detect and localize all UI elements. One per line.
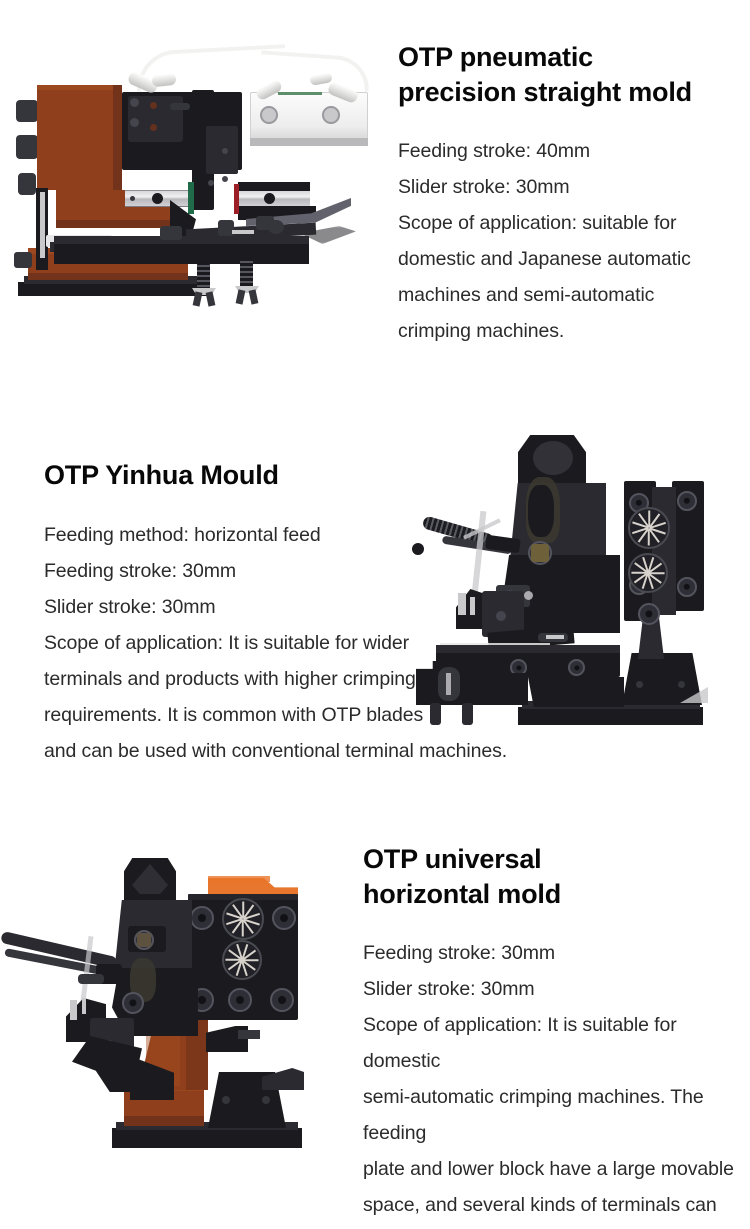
product-section-universal: OTP universal horizontal mold Feeding st… [0, 820, 750, 1229]
product-image-pneumatic [10, 30, 380, 320]
scope-line: space, and several kinds of terminals ca… [363, 1187, 743, 1223]
heading-line: precision straight mold [398, 75, 743, 110]
heading-line: OTP pneumatic [398, 40, 743, 75]
product-specs-page: OTP pneumatic precision straight mold Fe… [0, 0, 750, 1229]
product-image-universal [0, 840, 340, 1170]
text-block-universal: OTP universal horizontal mold Feeding st… [363, 842, 743, 1229]
text-block-pneumatic: OTP pneumatic precision straight mold Fe… [398, 40, 743, 349]
scope-line: Scope of application: It is suitable for… [363, 1007, 743, 1079]
adjustment-dial-upper [222, 898, 264, 940]
heading-line: OTP universal [363, 842, 743, 877]
heading-universal: OTP universal horizontal mold [363, 842, 743, 912]
scope-line: machines and semi-automatic [398, 277, 743, 313]
heading-line: horizontal mold [363, 877, 743, 912]
spec-feeding-stroke: Feeding stroke: 30mm [363, 935, 743, 971]
scope-line: Scope of application: suitable for [398, 205, 743, 241]
scope-of-application-pneumatic: Scope of application: suitable for domes… [398, 205, 743, 349]
scope-line: domestic and Japanese automatic [398, 241, 743, 277]
heading-pneumatic: OTP pneumatic precision straight mold [398, 40, 743, 110]
spec-slider-stroke: Slider stroke: 30mm [398, 169, 743, 205]
scope-of-application-universal: Scope of application: It is suitable for… [363, 1007, 743, 1229]
spec-slider-stroke: Slider stroke: 30mm [363, 971, 743, 1007]
scope-line: crimping machines. [398, 313, 743, 349]
scope-line: plate and lower block have a large movab… [363, 1151, 743, 1187]
spec-feeding-stroke: Feeding stroke: 40mm [398, 133, 743, 169]
adjustment-dial-lower [628, 553, 668, 593]
product-section-pneumatic: OTP pneumatic precision straight mold Fe… [0, 0, 750, 370]
adjustment-dial-lower [222, 940, 262, 980]
scope-line: be used. [363, 1223, 743, 1229]
adjustment-dial-upper [628, 507, 670, 549]
product-section-yinhua: OTP Yinhua Mould Feeding method: horizon… [0, 400, 750, 790]
scope-line: semi-automatic crimping machines. The fe… [363, 1079, 743, 1151]
product-image-yinhua [400, 415, 720, 745]
